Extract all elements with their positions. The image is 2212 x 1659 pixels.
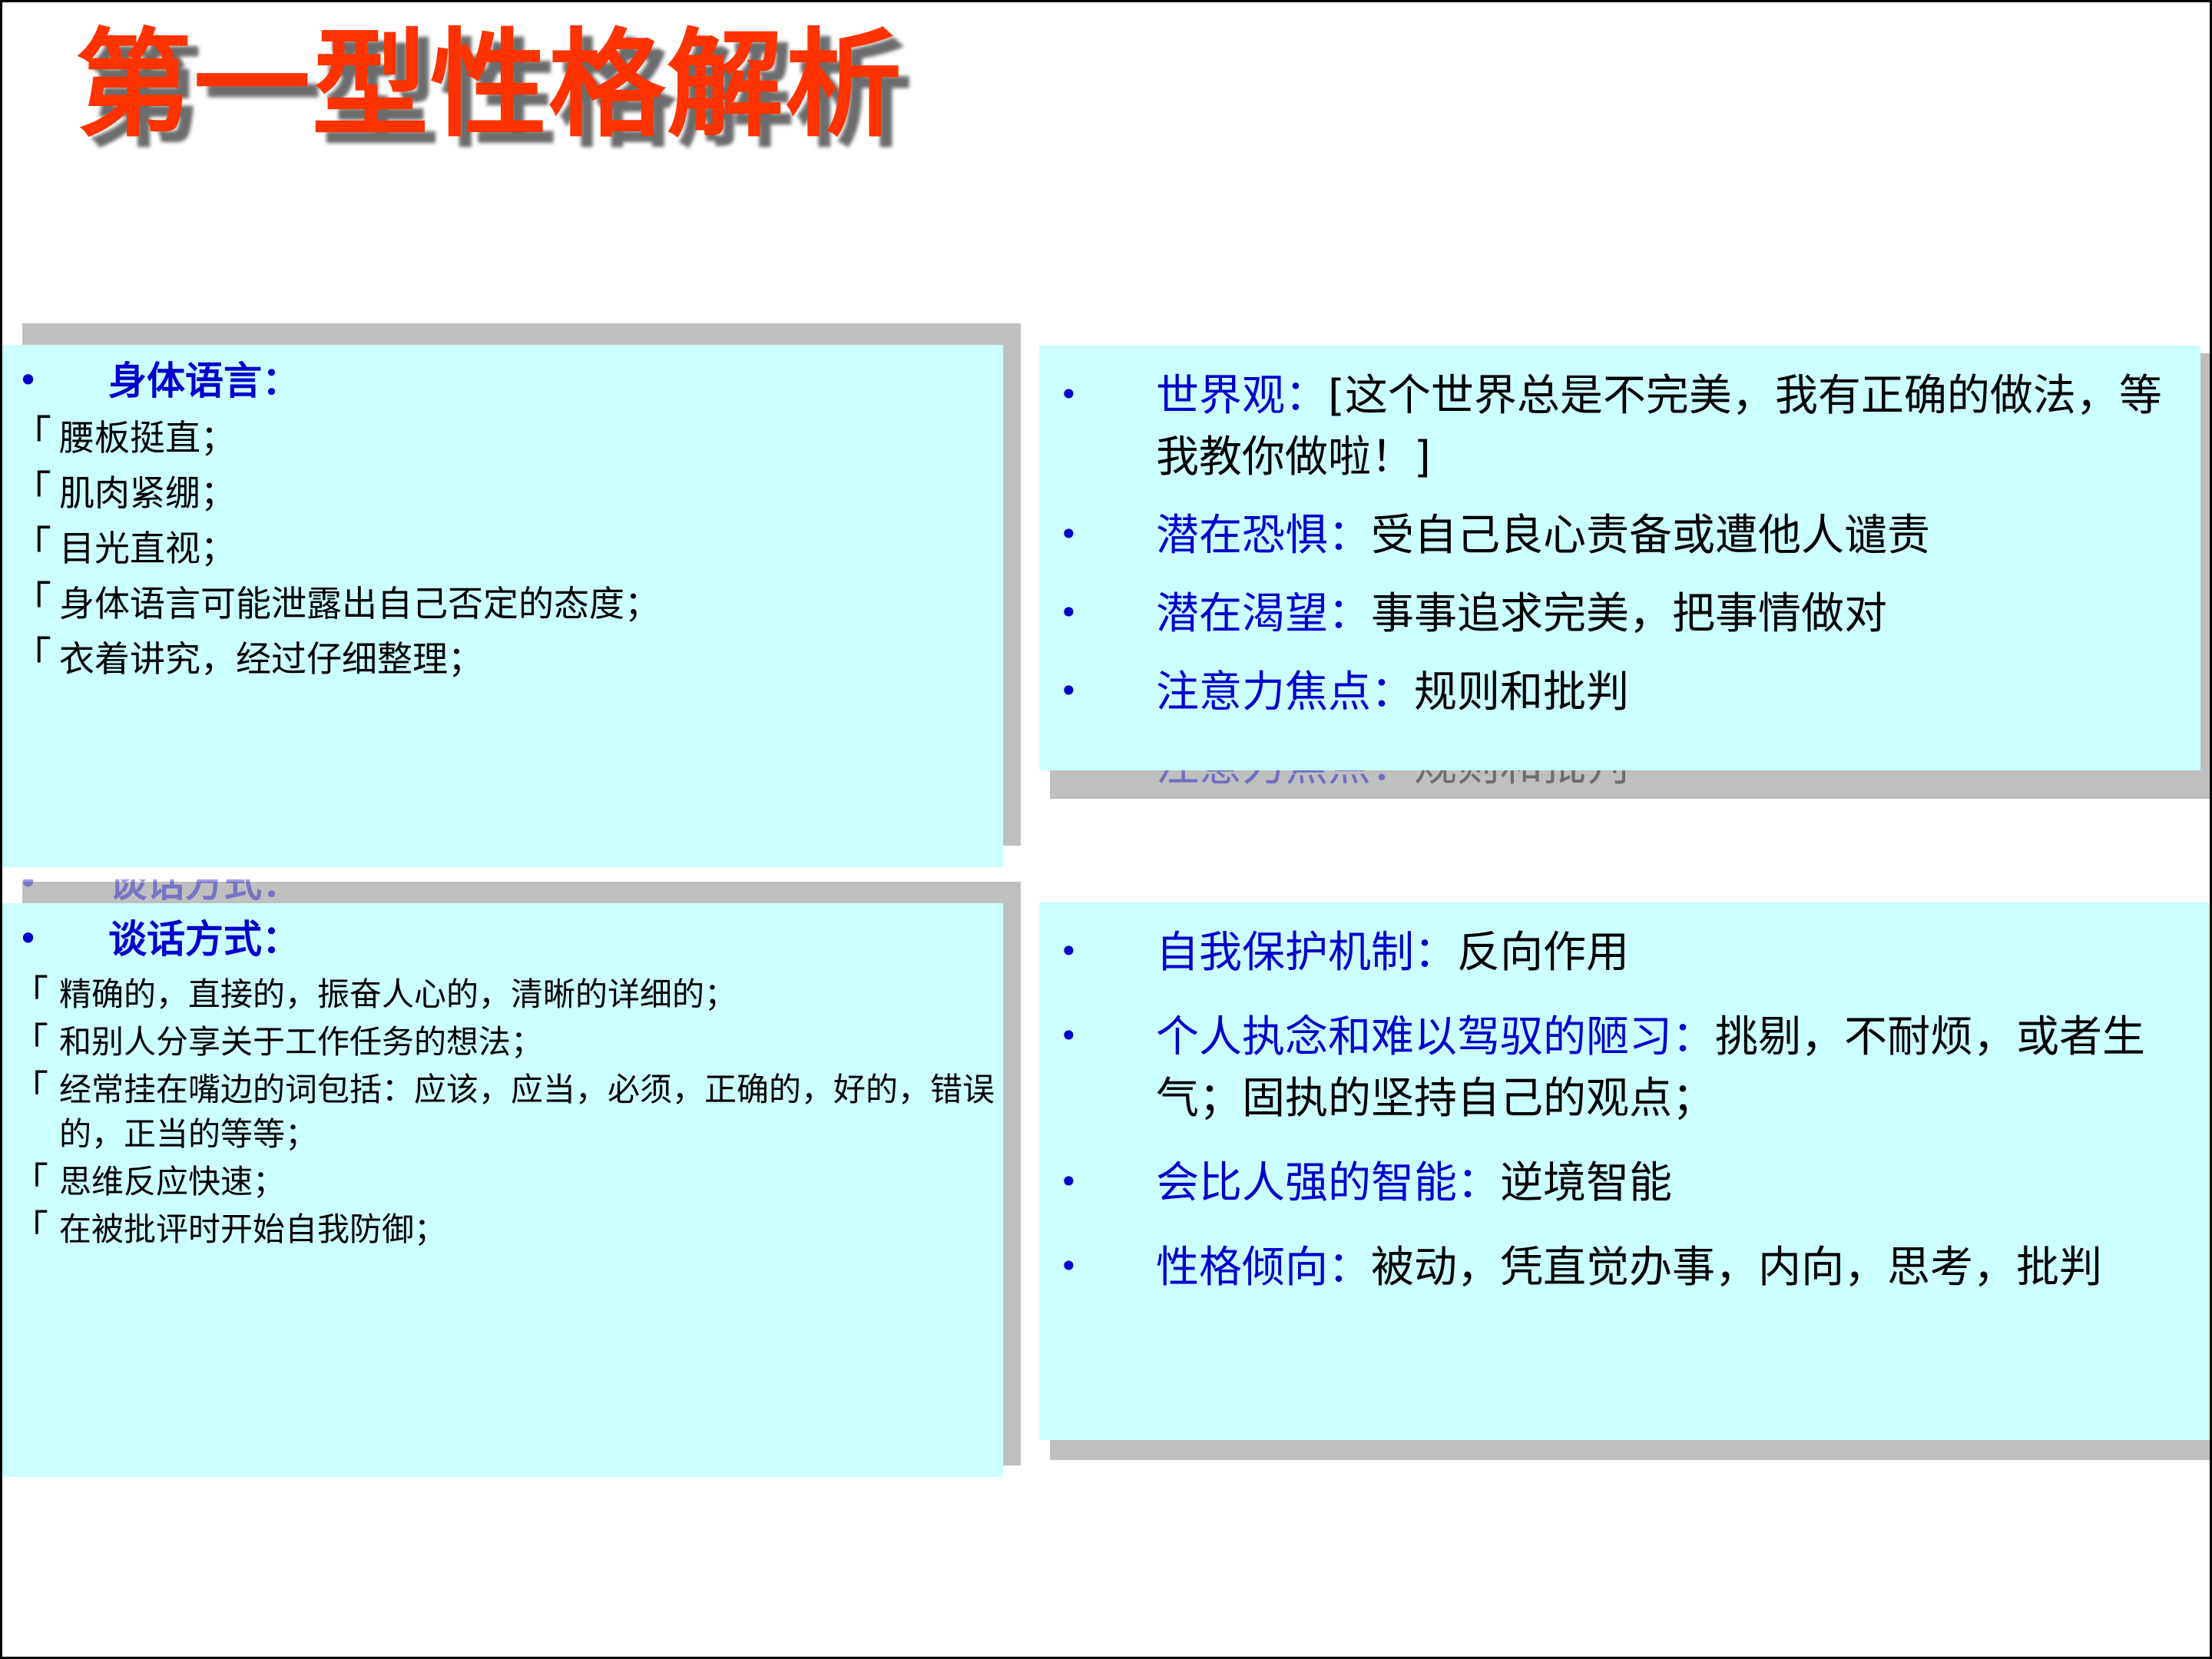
panel-surface: • 谈话方式： 「 精确的，直接的，振奋人心的，清晰的详细的； 「 和别人分享关…	[2, 903, 1003, 1477]
list-item-label: 会比人强的智能：逆境智能	[1156, 1153, 2200, 1214]
list-item-label: 精确的，直接的，振奋人心的，清晰的详细的；	[59, 972, 995, 1017]
list-item-label: 腰板挺直；	[59, 414, 995, 462]
list-item-lead: 会比人强的智能：	[1156, 1158, 1500, 1208]
list-item: 「 精确的，直接的，振奋人心的，清晰的详细的；	[2, 972, 995, 1017]
list-item-label: 目光直视；	[59, 525, 995, 572]
panel-surface: • 世界观：[这个世界总是不完美，我有正确的做法，等我教你做啦！] • 潜在恐惧…	[1039, 346, 2200, 770]
list-item: 「 和别人分享关于工作任务的想法；	[2, 1020, 995, 1065]
list-item-rest: 被动，凭直觉办事，内向，思考，批判	[1371, 1243, 2102, 1293]
list-item: • 潜在渴望：事事追求完美，把事情做对	[1039, 584, 2187, 645]
corner-bracket-icon: 「	[2, 972, 59, 1015]
list-item-label: 性格倾向：被动，凭直觉办事，内向，思考，批判	[1156, 1237, 2200, 1299]
corner-bracket-icon: 「	[2, 1160, 59, 1203]
list-item-rest: 反向作用	[1457, 928, 1629, 978]
list-item-lead: 个人执念和难以驾驭的陋习：	[1156, 1012, 1715, 1062]
list-item-label: 在被批评时开始自我防御；	[59, 1207, 995, 1252]
bullet-dot-icon: •	[1039, 1007, 1156, 1065]
bullet-list-body-language: • 身体语言： 「 腰板挺直； 「 肌肉紧绷； 「 目光直视； 「 身体语	[2, 345, 1003, 683]
list-item-lead: 潜在渴望：	[1156, 589, 1371, 639]
list-item-rest: 受自己良心责备或遭他人谴责	[1371, 511, 1930, 561]
list-item-label: 衣着讲究，经过仔细整理；	[59, 635, 995, 683]
list-item: • 性格倾向：被动，凭直觉办事，内向，思考，批判	[1039, 1237, 2200, 1299]
list-item: 「 腰板挺直；	[2, 414, 995, 462]
slide-canvas: 第一型性格解析 • 身体语言： 「 腰板挺直； 「 肌肉紧绷； 「	[0, 0, 2212, 1659]
corner-bracket-icon: 「	[2, 1020, 59, 1063]
list-item-lead: 自我保护机制：	[1156, 928, 1457, 978]
bullet-list-traits: • 自我保护机制：反向作用 • 个人执念和难以驾驭的陋习：挑剔，不耐烦，或者生气…	[1039, 902, 2212, 1299]
panel-worldview: • 世界观：[这个世界总是不完美，我有正确的做法，等我教你做啦！] • 潜在恐惧…	[1039, 321, 2212, 859]
corner-bracket-icon: 「	[2, 469, 59, 514]
list-item-lead: 性格倾向：	[1156, 1243, 1371, 1293]
list-item: • 会比人强的智能：逆境智能	[1039, 1153, 2200, 1214]
list-item-label: 注意力焦点：规则和批判	[1156, 662, 2187, 724]
list-item: • 个人执念和难以驾驭的陋习：挑剔，不耐烦，或者生气；固执的坚持自己的观点；	[1039, 1007, 2200, 1130]
list-item-label: 潜在渴望：事事追求完美，把事情做对	[1156, 584, 2187, 645]
bullet-dot-icon: •	[1039, 1153, 1156, 1211]
corner-bracket-icon: 「	[2, 414, 59, 459]
list-item: 「 思维反应快速；	[2, 1160, 995, 1204]
list-item-heading: • 谈话方式：	[2, 917, 995, 962]
list-item-label: 思维反应快速；	[59, 1160, 995, 1204]
list-item: • 注意力焦点：规则和批判	[1039, 662, 2187, 724]
list-item-label: 谈话方式：	[108, 917, 995, 962]
list-item-label: 和别人分享关于工作任务的想法；	[59, 1020, 995, 1065]
list-item-lead: 注意力焦点：	[1156, 667, 1414, 717]
bullet-dot-icon: •	[2, 359, 108, 402]
corner-bracket-icon: 「	[2, 580, 59, 624]
list-item-label: 世界观：[这个世界总是不完美，我有正确的做法，等我教你做啦！]	[1156, 366, 2187, 488]
list-item-label: 身体语言可能泄露出自己否定的态度；	[59, 580, 995, 628]
bullet-dot-icon: •	[1039, 922, 1156, 981]
bullet-dot-icon: •	[1039, 366, 1156, 424]
list-item-rest: 规则和批判	[1414, 667, 1629, 717]
list-item: 「 在被批评时开始自我防御；	[2, 1207, 995, 1252]
panel-speech: • 谈话方式： • 谈话方式： 「 精确的，直接的，振奋人心的，清晰的详细的； …	[2, 879, 1031, 1486]
list-item-label: 肌肉紧绷；	[59, 469, 995, 517]
bullet-dot-icon: •	[1039, 584, 1156, 642]
list-item-label: 潜在恐惧：受自己良心责备或遭他人谴责	[1156, 505, 2187, 567]
list-item-heading: • 身体语言：	[2, 359, 995, 403]
panel-traits: • 自我保护机制：反向作用 • 个人执念和难以驾驭的陋习：挑剔，不耐烦，或者生气…	[1039, 879, 2212, 1486]
list-item: • 世界观：[这个世界总是不完美，我有正确的做法，等我教你做啦！]	[1039, 366, 2187, 488]
bullet-dot-icon: •	[1039, 662, 1156, 720]
panel-body-language: • 身体语言： 「 腰板挺直； 「 肌肉紧绷； 「 目光直视； 「 身体语	[2, 321, 1031, 859]
corner-bracket-icon: 「	[2, 525, 59, 569]
corner-bracket-icon: 「	[2, 635, 59, 680]
list-item-lead: 世界观：	[1156, 371, 1328, 421]
list-item: 「 经常挂在嘴边的词包括：应该，应当，必须，正确的，好的，错误的，正当的等等；	[2, 1068, 995, 1157]
list-item-label: 身体语言：	[108, 359, 995, 403]
bullet-list-speech: • 谈话方式： 「 精确的，直接的，振奋人心的，清晰的详细的； 「 和别人分享关…	[2, 903, 1003, 1252]
list-item: 「 目光直视；	[2, 525, 995, 572]
bullet-list-worldview: • 世界观：[这个世界总是不完美，我有正确的做法，等我教你做啦！] • 潜在恐惧…	[1039, 346, 2200, 724]
list-item-label: 个人执念和难以驾驭的陋习：挑剔，不耐烦，或者生气；固执的坚持自己的观点；	[1156, 1007, 2200, 1130]
list-item-label: 经常挂在嘴边的词包括：应该，应当，必须，正确的，好的，错误的，正当的等等；	[59, 1068, 995, 1157]
list-item-rest: 逆境智能	[1500, 1158, 1672, 1208]
list-item: 「 身体语言可能泄露出自己否定的态度；	[2, 580, 995, 628]
bullet-dot-icon: •	[1039, 505, 1156, 564]
bullet-dot-icon: •	[2, 917, 108, 960]
panel-surface: • 自我保护机制：反向作用 • 个人执念和难以驾驭的陋习：挑剔，不耐烦，或者生气…	[1039, 902, 2212, 1440]
page-title: 第一型性格解析	[75, 24, 903, 147]
list-item-rest: 事事追求完美，把事情做对	[1371, 589, 1887, 639]
corner-bracket-icon: 「	[2, 1207, 59, 1250]
list-item: 「 肌肉紧绷；	[2, 469, 995, 517]
bullet-dot-icon: •	[1039, 1237, 1156, 1296]
list-item: • 潜在恐惧：受自己良心责备或遭他人谴责	[1039, 505, 2187, 567]
panel-surface: • 身体语言： 「 腰板挺直； 「 肌肉紧绷； 「 目光直视； 「 身体语	[2, 345, 1003, 867]
list-item: • 自我保护机制：反向作用	[1039, 922, 2200, 984]
corner-bracket-icon: 「	[2, 1068, 59, 1111]
list-item-lead: 潜在恐惧：	[1156, 511, 1371, 561]
list-item-label: 自我保护机制：反向作用	[1156, 922, 2200, 984]
list-item: 「 衣着讲究，经过仔细整理；	[2, 635, 995, 683]
